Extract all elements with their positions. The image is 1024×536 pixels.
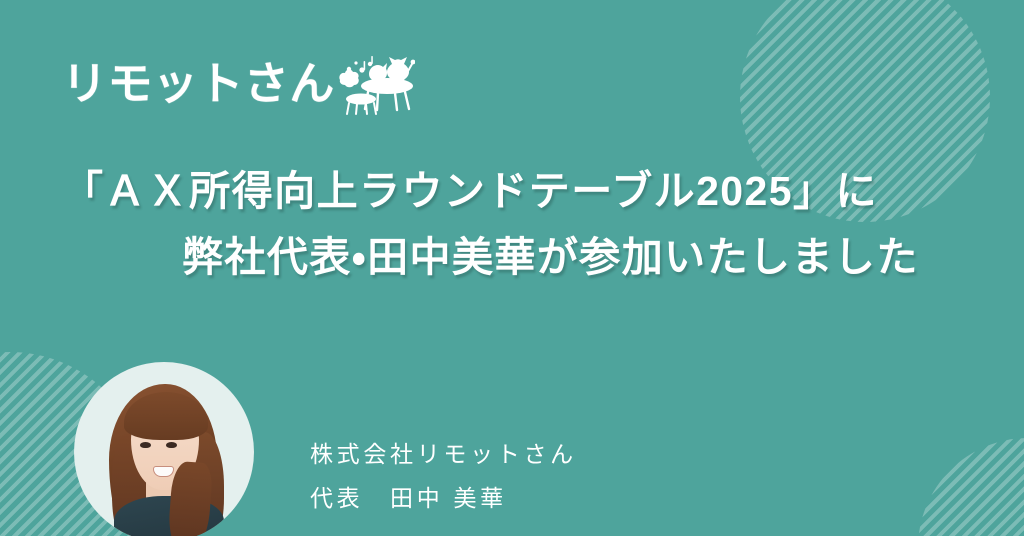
byline-role-name: 代表 田中 美華	[310, 476, 577, 520]
remotto-mascot-icon	[337, 50, 415, 121]
byline: 株式会社リモットさん 代表 田中 美華	[310, 432, 577, 520]
headline-line-2: 弊社代表・田中美華が参加いたしました	[0, 224, 1024, 290]
byline-company: 株式会社リモットさん	[310, 432, 577, 476]
ogp-banner: リモットさん	[0, 0, 1024, 536]
headline-line-1: 「ＡＸ所得向上ラウンドテーブル2025」に	[0, 158, 1024, 224]
portrait-mouth	[153, 466, 174, 477]
brand-logo-text: リモットさん	[62, 61, 335, 106]
portrait-eye-left	[140, 442, 151, 448]
page-title: 「ＡＸ所得向上ラウンドテーブル2025」に 弊社代表・田中美華が参加いたしました	[0, 158, 1024, 291]
brand-logo: リモットさん	[62, 44, 415, 122]
avatar	[74, 362, 254, 536]
stripe-circle-bottom-right-decoration	[918, 438, 1024, 536]
portrait-eye-right	[166, 442, 177, 448]
